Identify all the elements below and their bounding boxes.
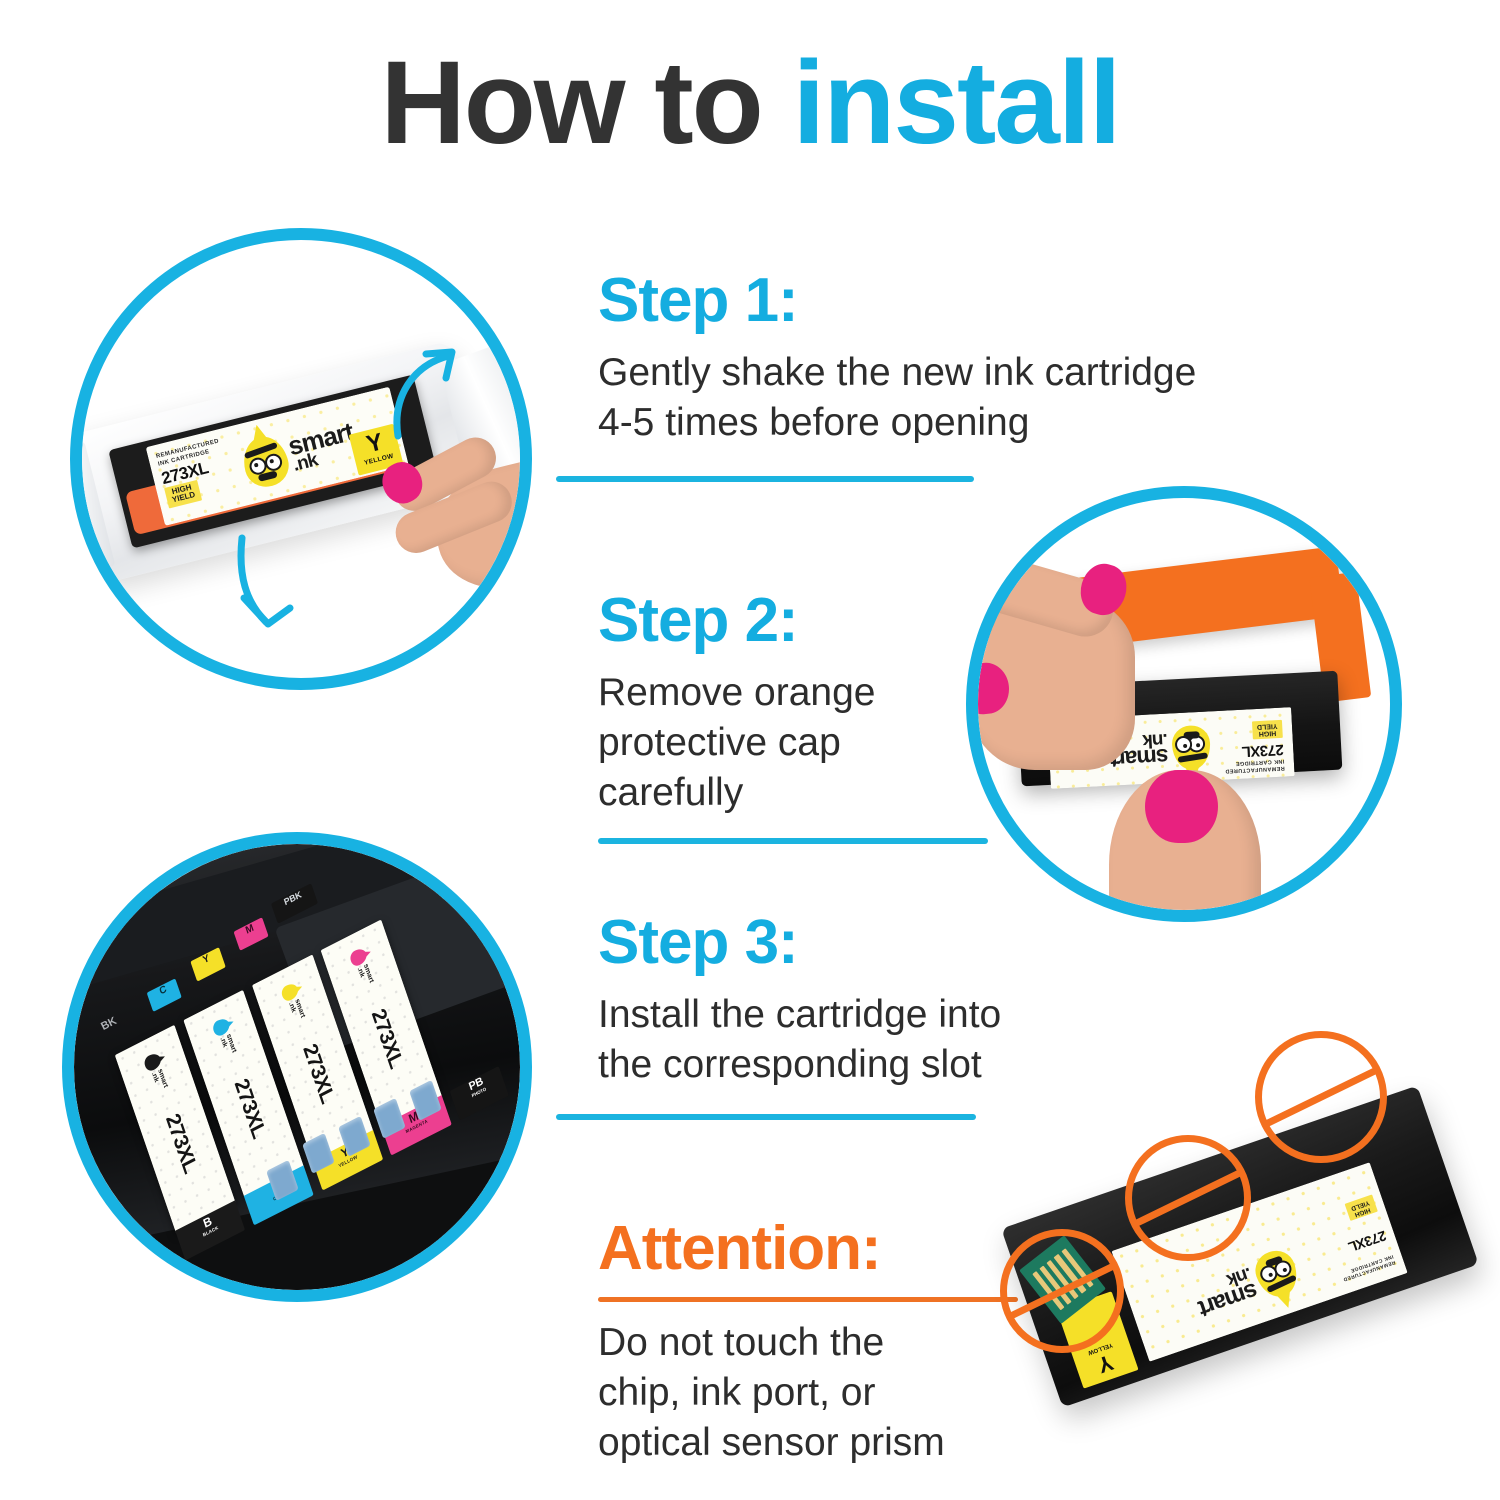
- attention-body-line3: optical sensor prism: [598, 1418, 945, 1468]
- ink-drop-mascot-icon: [238, 433, 293, 492]
- brand-lockup: smart .nk: [238, 416, 361, 492]
- page-title: How to install: [0, 42, 1500, 166]
- mini-brand-cyan: smart.nk: [210, 1016, 237, 1058]
- printer-interior: BK smart.nk 273XL B BLACK: [74, 844, 520, 1290]
- step-1-body-line2: 4-5 times before opening: [598, 398, 1196, 448]
- no-touch-optical-sensor-prism-icon: [1125, 1135, 1251, 1261]
- mini-brand-black: smart.nk: [142, 1051, 169, 1093]
- brand-text: smart .nk: [286, 421, 359, 475]
- shake-arrow-up-icon: [386, 344, 464, 440]
- step-1-heading: Step 1:: [598, 270, 1196, 332]
- step-1-text-block: Step 1: Gently shake the new ink cartrid…: [598, 270, 1196, 448]
- step-2-body-line1: Remove orange: [598, 668, 876, 718]
- installed-model-cyan: 273XL: [228, 1075, 269, 1143]
- hand-upper: [978, 556, 1135, 770]
- attention-brand-text: smart .nk: [1191, 1264, 1260, 1319]
- step-2-photo: REMANUFACTURED INK CARTRIDGE 273XL HIGH …: [966, 486, 1402, 922]
- page-title-part2: install: [793, 37, 1120, 169]
- step-2-body-line2: protective cap: [598, 718, 876, 768]
- step-3-divider: [556, 1114, 976, 1120]
- step-3-heading: Step 3:: [598, 912, 1001, 974]
- attention-label-model: 273XL: [1346, 1227, 1388, 1255]
- thumbnail: [1145, 770, 1218, 843]
- step-3-body-line2: the corresponding slot: [598, 1040, 1001, 1090]
- attention-label-fineprint: REMANUFACTURED INK CARTRIDGE: [1340, 1252, 1396, 1283]
- attention-high-yield-badge: HIGH YIELD: [1344, 1194, 1377, 1220]
- step-1-body-line1: Gently shake the new ink cartridge: [598, 348, 1196, 398]
- no-touch-ink-port-icon: [1255, 1031, 1387, 1163]
- high-yield-2-line1: HIGH: [1259, 729, 1277, 737]
- attention-body-line2: chip, ink port, or: [598, 1368, 945, 1418]
- installed-model-yellow: 273XL: [297, 1040, 338, 1108]
- step-3-photo-inner: BK smart.nk 273XL B BLACK: [74, 844, 520, 1290]
- step-1-photo: REMANUFACTURED INK CARTRIDGE 273XL HIGH …: [70, 228, 532, 690]
- mini-brand-text-cyan: smart.nk: [218, 1033, 235, 1057]
- mini-brand-text-black: smart.nk: [149, 1068, 166, 1092]
- mini-brand-text-yellow: smart.nk: [287, 998, 304, 1022]
- hand-lower: [1102, 762, 1283, 910]
- high-yield-2-line2: YIELD: [1257, 722, 1278, 730]
- attention-body-block: Do not touch the chip, ink port, or opti…: [598, 1318, 945, 1468]
- attention-photo: REMANUFACTURED INK CARTRIDGE 273XL HIGH …: [990, 1040, 1490, 1470]
- step-1-divider: [556, 476, 974, 482]
- slot-label-bk: BK: [99, 1015, 119, 1033]
- mini-brand-yellow: smart.nk: [279, 981, 306, 1023]
- installed-model-black: 273XL: [160, 1110, 201, 1178]
- cartridge-label: REMANUFACTURED INK CARTRIDGE 273XL HIGH …: [146, 387, 409, 526]
- attention-divider: [598, 1297, 1018, 1302]
- mini-brand-magenta: smart.nk: [348, 946, 375, 988]
- shake-arrow-down-icon: [232, 532, 306, 632]
- mini-brand-text-magenta: smart.nk: [355, 963, 372, 987]
- step-3-text-block: Step 3: Install the cartridge into the c…: [598, 912, 1001, 1090]
- step-2-divider: [598, 838, 988, 844]
- no-touch-chip-icon: [1000, 1229, 1124, 1353]
- attention-heading: Attention:: [598, 1218, 881, 1280]
- step-3-body: Install the cartridge into the correspon…: [598, 990, 1001, 1090]
- step-2-body: Remove orange protective cap carefully: [598, 668, 876, 818]
- attention-body: Do not touch the chip, ink port, or opti…: [598, 1318, 945, 1468]
- step-1-photo-inner: REMANUFACTURED INK CARTRIDGE 273XL HIGH …: [82, 240, 520, 678]
- rail-chip-cyan: C: [146, 978, 181, 1012]
- step-2-photo-inner: REMANUFACTURED INK CARTRIDGE 273XL HIGH …: [978, 498, 1390, 910]
- attention-text-block: Attention:: [598, 1218, 881, 1296]
- step-2-body-line3: carefully: [598, 768, 876, 818]
- step-3-body-line1: Install the cartridge into: [598, 990, 1001, 1040]
- infographic-page: How to install REMANUFACTURED INK CARTRI…: [0, 0, 1500, 1500]
- step-2-text-block: Step 2: Remove orange protective cap car…: [598, 590, 876, 818]
- step-1-body: Gently shake the new ink cartridge 4-5 t…: [598, 348, 1196, 448]
- mascot-eye-right: [263, 453, 284, 474]
- installed-model-magenta: 273XL: [366, 1005, 407, 1073]
- step-3-photo: BK smart.nk 273XL B BLACK: [62, 832, 532, 1302]
- page-title-part1: How to: [380, 37, 792, 169]
- step-2-heading: Step 2:: [598, 590, 876, 652]
- high-yield-badge-2: HIGH YIELD: [1252, 719, 1284, 739]
- attention-body-line1: Do not touch the: [598, 1318, 945, 1368]
- mascot-mouth-2: [1184, 731, 1200, 739]
- color-tab-photo-black: PB PHOTO: [449, 1065, 508, 1120]
- label-model-2: 273XL: [1242, 740, 1285, 759]
